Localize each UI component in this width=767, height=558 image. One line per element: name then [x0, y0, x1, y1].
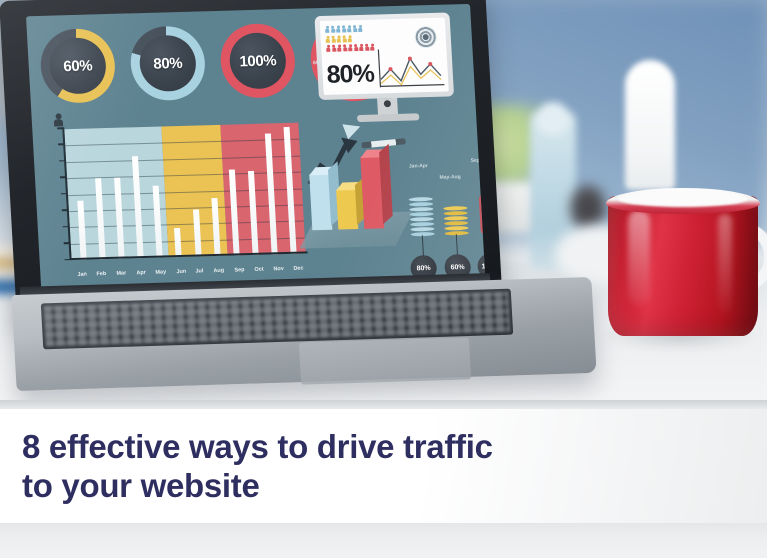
coin-stack-group: Jan-Apr May-Aug Sep-Dec [406, 155, 485, 278]
monitor-headline: 80% [326, 60, 375, 90]
gauge-value: 100% [239, 52, 277, 70]
bar-series [64, 123, 305, 260]
laptop-lid: 60% 80% 100% [0, 0, 503, 321]
bar-oct [248, 171, 259, 255]
laptop-screen: 60% 80% 100% [26, 4, 486, 298]
bar-jun [174, 228, 182, 257]
pictogram-row-2 [325, 34, 373, 43]
monitor-illustration: 80% [314, 12, 455, 126]
month-label-may: May [155, 269, 166, 276]
month-label-oct: Oct [254, 267, 264, 274]
x-axis-labels: JanFebMarAprMayJunJulAugSepOctNovDec [72, 265, 308, 278]
title-line-1: 8 effective ways to drive traffic [22, 427, 722, 466]
gauge-value: 80% [153, 54, 183, 72]
month-label-apr: Apr [136, 270, 146, 277]
mug-interior [618, 191, 748, 207]
pictogram-row-3 [326, 44, 374, 53]
month-label-sep: Sep [234, 267, 245, 274]
gauge-100: 100% [219, 23, 297, 99]
laptop: 60% 80% 100% [0, 0, 600, 412]
coin-stack-2 [443, 206, 469, 237]
stack-label-3: Sep-Dec [471, 157, 486, 164]
dashboard-infographic: 60% 80% 100% [26, 4, 486, 298]
bar-nov [265, 134, 278, 254]
pictogram-chart [325, 25, 375, 55]
stack-label-1: Jan-Apr [409, 163, 428, 170]
page-title: 8 effective ways to drive traffic to you… [22, 427, 722, 506]
month-label-nov: Nov [273, 266, 284, 273]
gauge-80: 80% [129, 25, 207, 101]
coin-stack-3 [479, 193, 486, 235]
laptop-trackpad [299, 337, 471, 384]
banner-bottom-strip [0, 523, 767, 558]
bar-feb [95, 178, 106, 259]
iso-bar-1 [309, 174, 332, 230]
bar-apr [132, 156, 144, 258]
user-icon [53, 113, 63, 126]
month-label-jun: Jun [176, 269, 186, 276]
monthly-bar-chart: JanFebMarAprMayJunJulAugSepOctNovDec [50, 121, 309, 283]
bar-jan [77, 201, 86, 260]
bar-dec [284, 127, 297, 254]
month-label-dec: Dec [293, 265, 304, 272]
bar-may [153, 186, 163, 258]
banner-top-strip [0, 400, 767, 409]
iso-bar-illustration [303, 126, 410, 249]
month-label-aug: Aug [213, 268, 224, 275]
caption-banner: 8 effective ways to drive traffic to you… [0, 409, 767, 523]
coffee-mug [608, 196, 758, 336]
bar-mar [114, 177, 125, 258]
photo-background: 60% 80% 100% [0, 0, 767, 412]
month-label-jul: Jul [195, 268, 203, 274]
screenshot-canvas: 60% 80% 100% [0, 0, 767, 558]
iso-bar-3 [360, 156, 384, 228]
coin-stack-1 [409, 197, 435, 238]
bar-chart-plot [64, 123, 305, 260]
title-line-2: to your website [22, 466, 722, 505]
stack-label-2: May-Aug [439, 174, 460, 181]
month-label-feb: Feb [97, 271, 107, 278]
month-label-mar: Mar [116, 270, 126, 277]
pictogram-row-1 [325, 25, 373, 34]
bar-jul [193, 209, 202, 256]
bar-aug [211, 198, 220, 256]
iso-bar-2 [336, 189, 358, 229]
month-label-jan: Jan [77, 271, 87, 278]
target-icon [414, 26, 437, 49]
gauge-value: 60% [63, 57, 93, 75]
white-tall-object [625, 60, 675, 190]
gauge-60: 60% [39, 28, 117, 104]
bar-sep [229, 169, 240, 255]
line-chart-icon [376, 24, 445, 88]
